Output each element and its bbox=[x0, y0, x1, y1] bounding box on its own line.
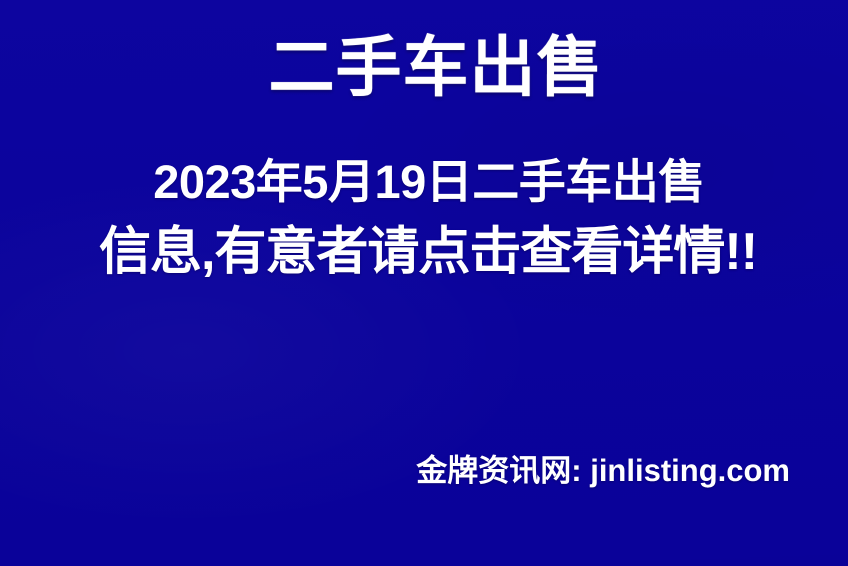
page-title: 二手车出售 bbox=[0, 34, 848, 100]
poster-content: 二手车出售 2023年5月19日二手车出售 信息,有意者请点击查看详情!! 金牌… bbox=[0, 0, 848, 566]
body-text-line-2: 信息,有意者请点击查看详情!! bbox=[0, 226, 848, 278]
used-car-listing-poster: 二手车出售 2023年5月19日二手车出售 信息,有意者请点击查看详情!! 金牌… bbox=[0, 0, 848, 566]
body-text-line-1: 2023年5月19日二手车出售 bbox=[0, 158, 848, 205]
footer-site-credit: 金牌资讯网: jinlisting.com bbox=[416, 455, 790, 486]
